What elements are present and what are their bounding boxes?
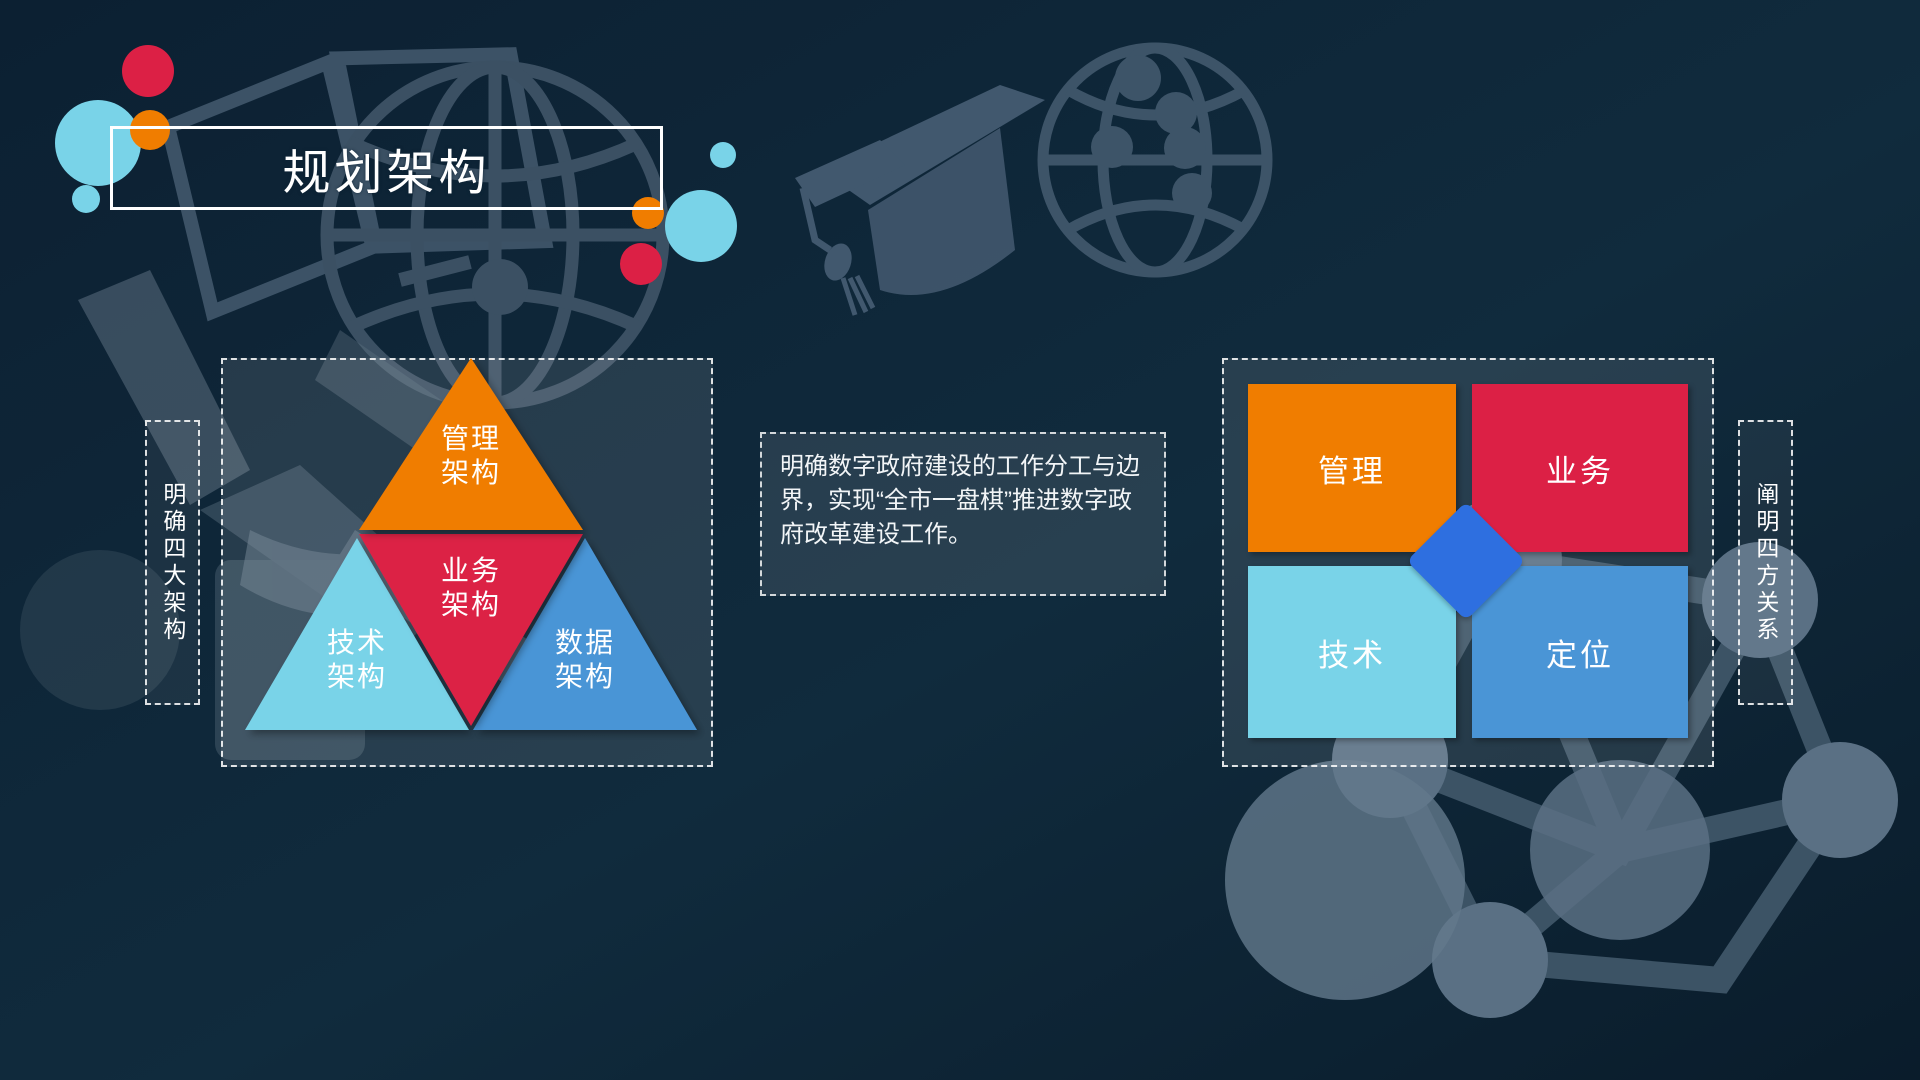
quadrant-bottom-right-label: 定位 bbox=[1546, 630, 1614, 675]
pyramid-center-label-line1: 业务 bbox=[414, 554, 528, 588]
pyramid-top-label-line1: 管理 bbox=[414, 422, 528, 456]
globe-grid-icon bbox=[327, 67, 663, 403]
cap-tassel bbox=[803, 188, 830, 250]
quadrant-top-left-label: 管理 bbox=[1318, 446, 1386, 491]
quadrant-top-right-label: 业务 bbox=[1546, 446, 1614, 491]
quadrant-bottom-left[interactable]: 技术 bbox=[1248, 566, 1456, 738]
molecule-accent-node bbox=[1225, 760, 1465, 1000]
pyramid-top-label-line2: 架构 bbox=[414, 456, 528, 490]
left-side-label: 明确四大架构 bbox=[145, 420, 200, 705]
network-globe-nodes bbox=[1091, 55, 1212, 213]
network-globe-icon bbox=[1043, 48, 1267, 272]
pyramid-top-label: 管理 架构 bbox=[414, 422, 528, 490]
circle-cyan-large-right bbox=[665, 190, 737, 262]
quadrant-bottom-left-label: 技术 bbox=[1318, 630, 1386, 675]
quadrant-top-left[interactable]: 管理 bbox=[1248, 384, 1456, 552]
cap-tassel-knot bbox=[820, 240, 856, 284]
circle-cyan-small-right bbox=[710, 142, 736, 168]
pyramid-center-label: 业务 架构 bbox=[414, 554, 528, 622]
quadrant-top-right[interactable]: 业务 bbox=[1472, 384, 1688, 552]
pyramid-center-label-line2: 架构 bbox=[414, 588, 528, 622]
pyramid-bottom-right-label-line1: 数据 bbox=[528, 626, 642, 660]
quadrant-diagram: 管理 业务 技术 定位 bbox=[1222, 358, 1714, 767]
pyramid-bottom-left-label-line1: 技术 bbox=[300, 626, 414, 660]
right-side-label: 阐明四方关系 bbox=[1738, 420, 1793, 705]
circle-crimson-dot-right bbox=[620, 243, 662, 285]
page-title: 规划架构 bbox=[110, 126, 663, 210]
quadrant-bottom-right[interactable]: 定位 bbox=[1472, 566, 1688, 738]
pyramid-bottom-right-label-line2: 架构 bbox=[528, 660, 642, 694]
globe-pointer bbox=[400, 262, 470, 280]
graduation-cap-icon bbox=[795, 85, 1045, 295]
pyramid-diagram: 管理 架构 业务 架构 技术 架构 数据 架构 bbox=[221, 358, 713, 767]
center-note: 明确数字政府建设的工作分工与边界，实现“全市一盘棋”推进数字政府改革建设工作。 bbox=[760, 432, 1166, 596]
globe-node bbox=[472, 259, 528, 315]
circle-cyan-small-top bbox=[72, 185, 100, 213]
pyramid-bottom-left-label-line2: 架构 bbox=[300, 660, 414, 694]
pyramid-bottom-left-label: 技术 架构 bbox=[300, 626, 414, 694]
cap-tassel-threads bbox=[843, 276, 873, 315]
pyramid-bottom-right-label: 数据 架构 bbox=[528, 626, 642, 694]
circle-crimson-dot-top bbox=[122, 45, 174, 97]
